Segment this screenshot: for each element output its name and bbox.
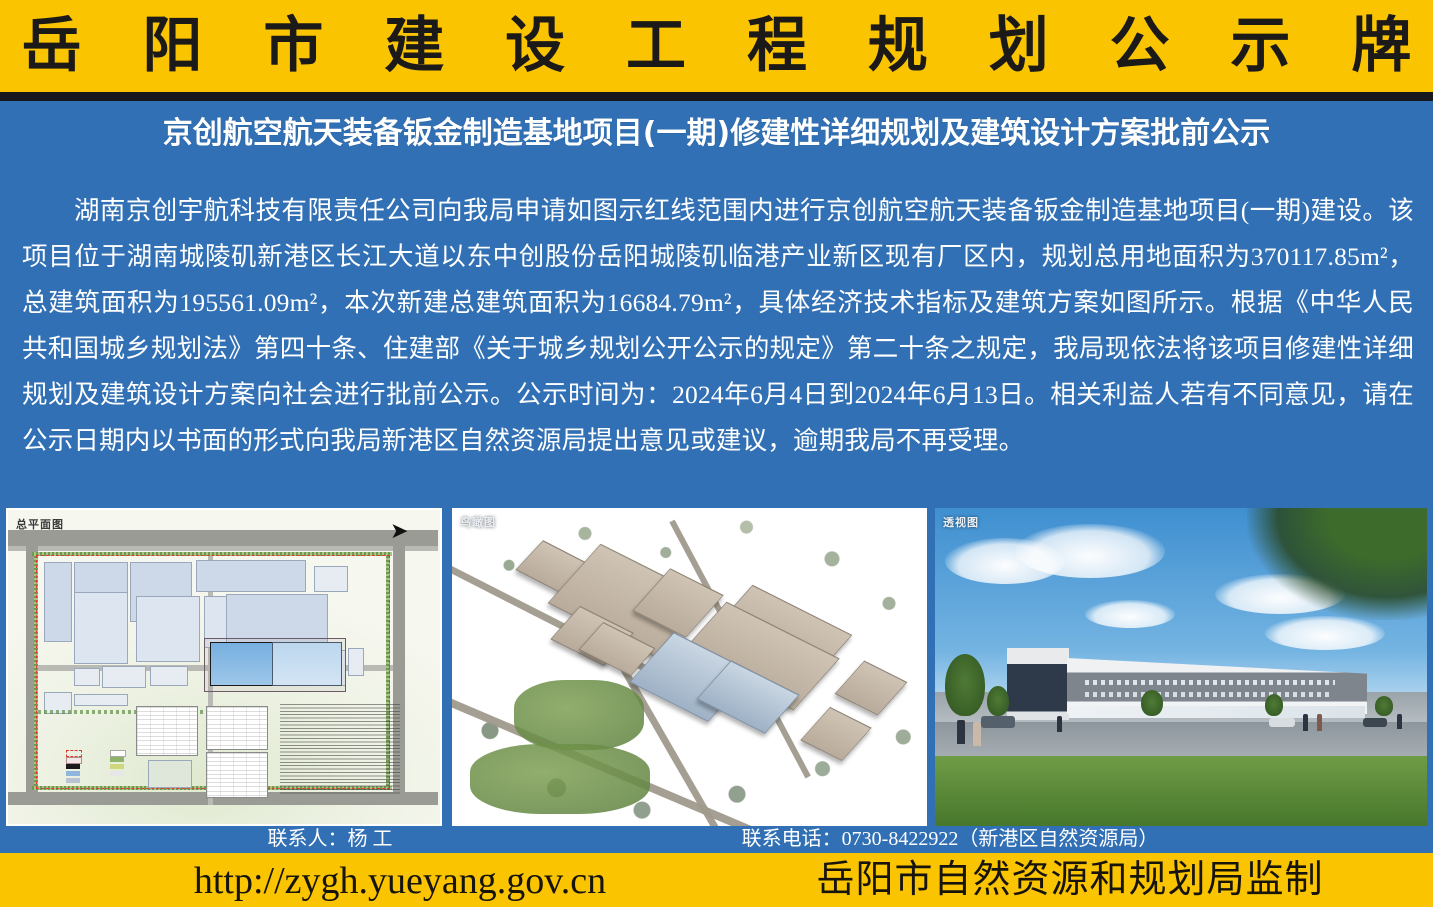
issuing-authority: 岳阳市自然资源和规划局监制	[760, 852, 1380, 906]
project-subtitle: 京创航空航天装备钣金制造基地项目(一期)修建性详细规划及建筑设计方案批前公示	[0, 116, 1433, 152]
plan-building	[136, 596, 200, 662]
building-window-row	[1085, 680, 1335, 685]
legend-swatch-existing-building	[66, 771, 80, 776]
plan-building	[102, 666, 146, 688]
site-plan-caption: 总平面图	[16, 516, 64, 532]
street-tree	[987, 686, 1009, 716]
site-plan-image[interactable]: ➤ 总平面图	[6, 508, 442, 826]
building-end-facade	[1007, 648, 1069, 720]
contact-phone: 联系电话：0730-8422922（新港区自然资源局）	[600, 826, 1300, 853]
north-arrow-icon: ➤	[390, 518, 424, 544]
title-banner: 岳 阳 市 建 设 工 程 规 划 公 示 牌	[0, 0, 1433, 92]
plan-building	[196, 560, 306, 592]
perspective-render-drawing	[935, 508, 1427, 826]
aerial-lawn	[514, 680, 644, 750]
perspective-render-image[interactable]: 透视图	[935, 508, 1427, 826]
street-tree	[1375, 696, 1393, 716]
plan-building	[74, 668, 100, 686]
cloud	[1265, 616, 1385, 650]
website-url[interactable]: http://zygh.yueyang.gov.cn	[110, 856, 690, 906]
plan-road-north-edge	[8, 546, 438, 551]
cloud	[1015, 524, 1165, 578]
pedestrian	[957, 720, 965, 744]
plan-indicator-table-2	[206, 706, 268, 750]
parked-car	[981, 716, 1015, 728]
moving-car	[1363, 718, 1387, 727]
street-tree	[945, 654, 985, 716]
legend-swatch-lawn	[110, 764, 124, 769]
pedestrian	[973, 722, 981, 746]
pedestrian	[1397, 714, 1402, 729]
plan-project-building-new	[210, 642, 274, 686]
image-strip: ➤ 总平面图	[0, 508, 1433, 826]
aerial-lawn	[470, 744, 650, 814]
title-divider	[0, 92, 1433, 101]
plan-project-building-existing	[272, 642, 342, 686]
legend-swatch-new-building	[66, 764, 80, 769]
plan-indicator-table-1	[136, 706, 198, 756]
legend-swatch-paving	[110, 771, 124, 776]
aerial-render-caption: 鸟瞰图	[460, 514, 496, 530]
pedestrian	[1317, 714, 1322, 731]
pedestrian	[1303, 714, 1308, 731]
legend-swatch-redline	[66, 750, 82, 757]
contact-person: 联系人：杨 工	[0, 826, 660, 853]
moving-car	[1269, 718, 1295, 727]
legend-swatch-other	[66, 778, 80, 783]
foreground-tree-canopy	[1247, 508, 1427, 620]
street-tree	[1141, 690, 1163, 716]
plan-indicator-table-3	[206, 752, 268, 798]
plan-building	[150, 666, 188, 686]
page-title: 岳 阳 市 建 设 工 程 规 划 公 示 牌	[2, 16, 1432, 76]
legend-swatch-road	[110, 750, 126, 757]
pedestrian	[1057, 716, 1062, 732]
plan-building	[74, 592, 128, 664]
plan-building	[44, 562, 72, 642]
notice-paragraph: 湖南京创宇航科技有限责任公司向我局申请如图示红线范围内进行京创航空航天装备钣金制…	[22, 196, 1414, 455]
street-tree	[1265, 694, 1283, 716]
cloud	[1085, 600, 1175, 628]
plan-road-north	[8, 530, 438, 546]
legend-swatch-parcel	[66, 757, 82, 764]
plan-building	[314, 566, 348, 592]
foreground-lawn	[935, 756, 1427, 826]
plan-building	[348, 648, 364, 676]
plan-location-diagram	[148, 760, 192, 788]
aerial-render-drawing	[452, 508, 927, 826]
planning-notice-board: 岳 阳 市 建 设 工 程 规 划 公 示 牌 京创航空航天装备钣金制造基地项目…	[0, 0, 1433, 907]
notice-body-text: 湖南京创宇航科技有限责任公司向我局申请如图示红线范围内进行京创航空航天装备钣金制…	[22, 188, 1414, 464]
legend-swatch-green	[110, 757, 124, 762]
perspective-render-caption: 透视图	[943, 514, 979, 530]
site-plan-drawing: ➤	[8, 510, 440, 824]
plan-building	[74, 694, 128, 706]
aerial-render-image[interactable]: 鸟瞰图	[452, 508, 927, 826]
building-window-row	[1085, 692, 1330, 697]
plan-design-notes	[280, 704, 400, 796]
